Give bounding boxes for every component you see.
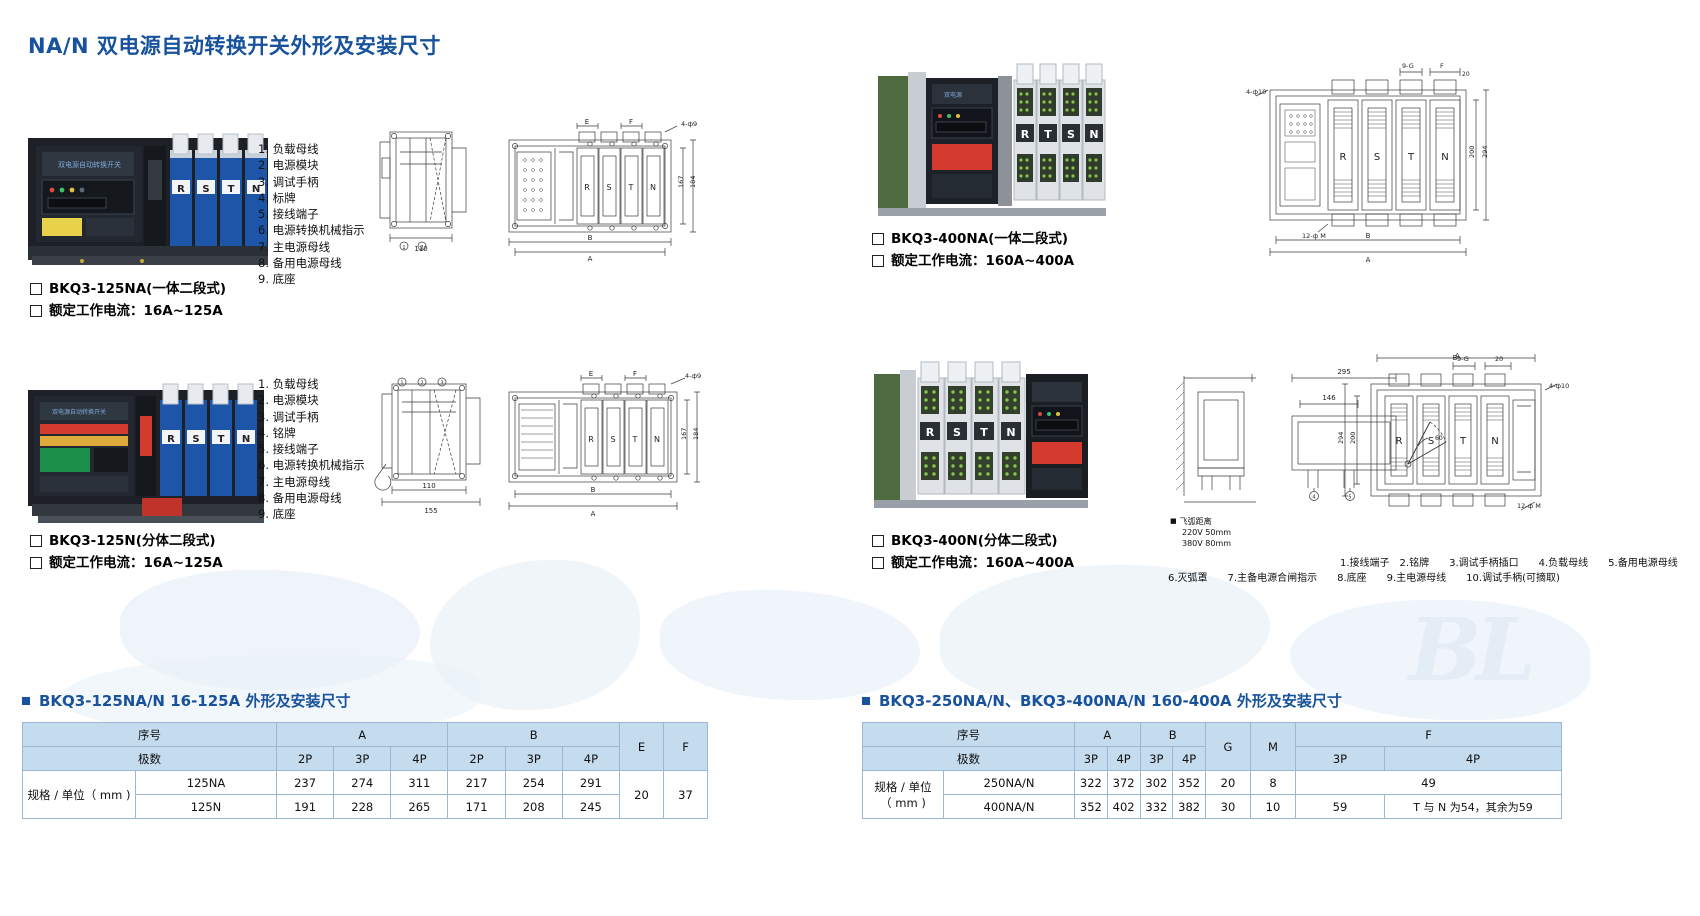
svg-text:R: R — [167, 434, 175, 445]
svg-text:4-ф9: 4-ф9 — [681, 120, 697, 128]
heading-text: BKQ3-250NA/N、BKQ3-400NA/N 160-400A 外形及安装… — [879, 690, 1342, 711]
td-B3P: 254 — [505, 771, 562, 795]
drawing-front-view-125na: E F 4-ф9 B A 167 184 R S T N — [495, 118, 705, 263]
svg-text:T: T — [1044, 128, 1052, 141]
th-B-4P: 4P — [562, 747, 619, 771]
product-model: BKQ3-125N(分体二段式) — [49, 530, 216, 552]
checkbox-icon[interactable] — [872, 535, 884, 547]
legend-line: 1.接线端子 2.铭牌 3.调试手柄插口 4.负载母线 5.备用电源母线 — [1168, 556, 1678, 571]
product-photo-bkq3-125na: 双电源自动转换开关 R S T — [22, 120, 282, 280]
svg-text:T: T — [228, 184, 235, 195]
svg-text:双电源自动转换开关: 双电源自动转换开关 — [52, 408, 106, 416]
arc-distance-note: ■ 飞弧距离 220V 50mm 380V 80mm — [1170, 516, 1231, 549]
svg-text:R: R — [177, 184, 185, 195]
legend-item: 1. 负载母线 — [258, 376, 365, 392]
legend-list-bkq3-125na: 1. 负载母线 2. 电源模块 3. 调试手柄 4. 标牌 5. 接线端子 6.… — [258, 141, 365, 288]
td-model: 250NA/N — [944, 771, 1075, 795]
svg-text:20: 20 — [1462, 71, 1470, 78]
spec-table-125: 序号 A B E F 极数 2P 3P 4P 2P 3P 4P 规格 / 单位（… — [22, 722, 708, 819]
table-row: 400NA/N 352 402 332 382 30 10 59 T 与 N 为… — [863, 795, 1562, 819]
th-serial: 序号 — [863, 723, 1075, 747]
svg-text:12-ф M: 12-ф M — [1517, 502, 1541, 510]
td-A4P: 372 — [1107, 771, 1140, 795]
th-F-4P: 4P — [1385, 747, 1562, 771]
product-model: BKQ3-400N(分体二段式) — [891, 530, 1058, 552]
th-serial: 序号 — [23, 723, 277, 747]
th-M: M — [1251, 723, 1296, 771]
svg-text:N: N — [242, 434, 250, 445]
legend-item: 4. 铭牌 — [258, 425, 365, 441]
svg-text:T: T — [1459, 436, 1467, 447]
legend-item: 7. 主电源母线 — [258, 474, 365, 490]
svg-text:T: T — [632, 435, 638, 444]
svg-text:4: 4 — [1312, 495, 1315, 501]
svg-text:184: 184 — [689, 176, 697, 188]
page-title: NA/N 双电源自动转换开关外形及安装尺寸 — [28, 30, 441, 60]
svg-text:294: 294 — [1481, 146, 1489, 158]
checkbox-icon[interactable] — [30, 283, 42, 295]
svg-text:1: 1 — [402, 245, 405, 251]
svg-text:R: R — [926, 426, 935, 439]
product-photo-bkq3-400n: R S T — [868, 360, 1098, 515]
td-A2P: 237 — [277, 771, 334, 795]
th-E: E — [620, 723, 664, 771]
dimension-label-A: A — [1455, 352, 1460, 360]
arc-note-title: 飞弧距离 — [1180, 516, 1212, 527]
product-current: 额定工作电流：160A~400A — [891, 250, 1074, 272]
svg-text:S: S — [606, 183, 611, 192]
spec-table-250-400: 序号 A B G M F 极数 3P 4P 3P 4P 3P 4P 规格 / 单… — [862, 722, 1562, 819]
th-A: A — [277, 723, 448, 747]
legend-item: 7. 主电源母线 — [258, 239, 365, 255]
drawing-wall-mount-400n — [1168, 366, 1278, 516]
svg-text:R: R — [584, 183, 590, 192]
checkbox-icon[interactable] — [872, 233, 884, 245]
svg-text:N: N — [650, 183, 656, 192]
td-A4P: 311 — [391, 771, 448, 795]
svg-text:N: N — [1491, 436, 1498, 447]
product-model: BKQ3-400NA(一体二段式) — [891, 228, 1068, 250]
svg-text:F: F — [633, 370, 637, 378]
td-B3P: 208 — [505, 795, 562, 819]
section-heading-left-table: BKQ3-125NA/N 16-125A 外形及安装尺寸 — [22, 690, 350, 711]
svg-text:R: R — [588, 435, 594, 444]
checkbox-icon[interactable] — [30, 305, 42, 317]
svg-text:F: F — [1440, 62, 1444, 70]
unit-line-2: （ mm ) — [863, 795, 943, 811]
unit-line-1: 规格 / 单位 — [863, 779, 943, 795]
checkbox-icon[interactable] — [872, 557, 884, 569]
svg-text:E: E — [589, 370, 593, 378]
th-F-3P: 3P — [1296, 747, 1385, 771]
td-model: 125N — [136, 795, 277, 819]
td-unit-label: 规格 / 单位（ mm ) — [23, 771, 136, 819]
td-F-400-3P: 59 — [1296, 795, 1385, 819]
th-B-4P: 4P — [1173, 747, 1206, 771]
svg-text:1: 1 — [400, 381, 403, 387]
td-A4P: 265 — [391, 795, 448, 819]
th-G: G — [1206, 723, 1251, 771]
legend-item: 3. 调试手柄 — [258, 409, 365, 425]
svg-text:S: S — [1067, 128, 1075, 141]
td-model: 400NA/N — [944, 795, 1075, 819]
drawing-front-view-125n: E F 4-ф9 B A 167 184 R S T N — [495, 368, 710, 518]
svg-text:167: 167 — [680, 428, 688, 440]
drawing-side-view-125n: 110 155 1 2 3 — [368, 368, 508, 518]
th-F: F — [1296, 723, 1562, 747]
th-A-4P: 4P — [391, 747, 448, 771]
th-B-2P: 2P — [448, 747, 505, 771]
td-G: 20 — [1206, 771, 1251, 795]
svg-text:S: S — [953, 426, 961, 439]
svg-text:200: 200 — [1349, 432, 1357, 444]
svg-text:R: R — [1396, 436, 1403, 447]
td-B4P: 352 — [1173, 771, 1206, 795]
table-header-row-2: 极数 2P 3P 4P 2P 3P 4P — [23, 747, 708, 771]
td-E: 20 — [620, 771, 664, 819]
product-photo-bkq3-400na: 双电源 R T — [870, 58, 1110, 233]
svg-text:12-ф M: 12-ф M — [1302, 232, 1326, 240]
svg-text:R: R — [1340, 152, 1347, 163]
square-bullet-icon — [862, 697, 870, 705]
svg-text:S: S — [1428, 436, 1434, 447]
drawing-front-view-400na: 9-G F 20 4-ф10 12-ф M 200 294 B A R S T … — [1240, 62, 1500, 272]
legend-item: 6. 电源转换机械指示 — [258, 222, 365, 238]
drawing-front-view-400n: B A . 9-G 20 4-ф10 12-ф M 200 294 R S T … — [1335, 352, 1570, 537]
legend-item: 9. 底座 — [258, 271, 365, 287]
legend-item: 9. 底座 — [258, 506, 365, 522]
caption-bkq3-125n: BKQ3-125N(分体二段式) 额定工作电流：16A~125A — [30, 530, 223, 574]
product-current: 额定工作电流：16A~125A — [49, 300, 223, 322]
svg-text:N: N — [1441, 152, 1448, 163]
svg-text:T: T — [218, 434, 225, 445]
svg-text:T: T — [1407, 152, 1415, 163]
legend-item: 5. 接线端子 — [258, 441, 365, 457]
svg-text:E: E — [585, 118, 589, 126]
legend-line: 6.灭弧罩 7.主备电源合闸指示 8.底座 9.主电源母线 10.调试手柄(可摘… — [1168, 571, 1678, 586]
svg-text:双电源自动转换开关: 双电源自动转换开关 — [58, 160, 121, 169]
legend-item: 2. 电源模块 — [258, 157, 365, 173]
legend-item: 2. 电源模块 — [258, 392, 365, 408]
th-A-2P: 2P — [277, 747, 334, 771]
svg-text:N: N — [1089, 128, 1098, 141]
checkbox-icon[interactable] — [30, 557, 42, 569]
svg-text:T: T — [628, 183, 634, 192]
legend-item: 5. 接线端子 — [258, 206, 365, 222]
td-A3P: 274 — [334, 771, 391, 795]
checkbox-icon[interactable] — [30, 535, 42, 547]
svg-text:167: 167 — [677, 176, 685, 188]
td-B3P: 332 — [1140, 795, 1173, 819]
legend-list-bkq3-400n: 1.接线端子 2.铭牌 3.调试手柄插口 4.负载母线 5.备用电源母线 6.灭… — [1168, 556, 1678, 586]
svg-text:9-G: 9-G — [1402, 62, 1414, 70]
arc-note-line: 220V 50mm — [1182, 527, 1231, 538]
svg-text:2: 2 — [420, 381, 423, 387]
section-heading-right-table: BKQ3-250NA/N、BKQ3-400NA/N 160-400A 外形及安装… — [862, 690, 1342, 711]
svg-text:N: N — [654, 435, 660, 444]
bullet-icon: ■ — [1170, 516, 1177, 527]
svg-text:200: 200 — [1468, 146, 1476, 158]
svg-text:3: 3 — [440, 381, 443, 387]
td-model: 125NA — [136, 771, 277, 795]
svg-text:A: A — [588, 255, 593, 263]
svg-text:F: F — [629, 118, 633, 126]
legend-item: 3. 调试手柄 — [258, 174, 365, 190]
svg-text:4-ф10: 4-ф10 — [1246, 88, 1266, 96]
svg-text:S: S — [192, 434, 199, 445]
arc-note-line: 380V 80mm — [1182, 538, 1231, 549]
svg-text:4-ф9: 4-ф9 — [685, 372, 701, 380]
square-bullet-icon — [22, 697, 30, 705]
td-A2P: 191 — [277, 795, 334, 819]
td-B4P: 245 — [562, 795, 619, 819]
svg-text:S: S — [1374, 152, 1380, 163]
td-M: 8 — [1251, 771, 1296, 795]
td-F: 37 — [664, 771, 708, 819]
legend-item: 4. 标牌 — [258, 190, 365, 206]
svg-text:N: N — [1006, 426, 1015, 439]
product-current: 额定工作电流：160A~400A — [891, 552, 1074, 574]
svg-text:A: A — [1366, 256, 1371, 264]
td-unit-label: 规格 / 单位 （ mm ) — [863, 771, 944, 819]
legend-item: 8. 备用电源母线 — [258, 490, 365, 506]
brand-watermark-text: BL — [1409, 600, 1530, 701]
caption-bkq3-400na: BKQ3-400NA(一体二段式) 额定工作电流：160A~400A — [872, 228, 1074, 272]
td-A3P: 352 — [1075, 795, 1108, 819]
svg-text:20: 20 — [1495, 355, 1503, 363]
td-B3P: 302 — [1140, 771, 1173, 795]
th-poles: 极数 — [863, 747, 1075, 771]
svg-text:S: S — [610, 435, 615, 444]
legend-item: 8. 备用电源母线 — [258, 255, 365, 271]
td-A3P: 228 — [334, 795, 391, 819]
product-current: 额定工作电流：16A~125A — [49, 552, 223, 574]
svg-text:S: S — [202, 184, 209, 195]
th-poles: 极数 — [23, 747, 277, 771]
td-B4P: 291 — [562, 771, 619, 795]
th-B-3P: 3P — [505, 747, 562, 771]
svg-text:294: 294 — [1337, 432, 1345, 444]
svg-text:T: T — [980, 426, 988, 439]
caption-bkq3-400n: BKQ3-400N(分体二段式) 额定工作电流：160A~400A — [872, 530, 1074, 574]
table-header-row: 序号 A B E F — [23, 723, 708, 747]
heading-text: BKQ3-125NA/N 16-125A 外形及安装尺寸 — [39, 690, 350, 711]
table-row: 规格 / 单位 （ mm ) 250NA/N 322 372 302 352 2… — [863, 771, 1562, 795]
checkbox-icon[interactable] — [872, 255, 884, 267]
svg-text:A: A — [591, 510, 596, 518]
svg-text:B: B — [591, 486, 596, 494]
svg-text:B: B — [588, 234, 593, 242]
svg-text:双电源: 双电源 — [944, 91, 962, 99]
th-A-3P: 3P — [1075, 747, 1108, 771]
td-G: 30 — [1206, 795, 1251, 819]
td-F-400-4P: T 与 N 为54，其余为59 — [1385, 795, 1562, 819]
td-B2P: 171 — [448, 795, 505, 819]
product-model: BKQ3-125NA(一体二段式) — [49, 278, 226, 300]
td-F-250: 49 — [1296, 771, 1562, 795]
table-header-row: 序号 A B G M F — [863, 723, 1562, 747]
th-B: B — [1140, 723, 1206, 747]
legend-item: 1. 负载母线 — [258, 141, 365, 157]
svg-text:184: 184 — [692, 428, 700, 440]
legend-list-bkq3-125n: 1. 负载母线 2. 电源模块 3. 调试手柄 4. 铭牌 5. 接线端子 6.… — [258, 376, 365, 523]
th-A-3P: 3P — [334, 747, 391, 771]
th-A-4P: 4P — [1107, 747, 1140, 771]
td-B4P: 382 — [1173, 795, 1206, 819]
svg-text:110: 110 — [422, 482, 435, 490]
th-B: B — [448, 723, 620, 747]
table-row: 规格 / 单位（ mm ) 125NA 237 274 311 217 254 … — [23, 771, 708, 795]
legend-item: 6. 电源转换机械指示 — [258, 457, 365, 473]
svg-text:B: B — [1366, 232, 1371, 240]
th-B-3P: 3P — [1140, 747, 1173, 771]
td-A4P: 402 — [1107, 795, 1140, 819]
td-M: 10 — [1251, 795, 1296, 819]
svg-text:4-ф10: 4-ф10 — [1549, 382, 1569, 390]
svg-text:2: 2 — [420, 245, 423, 251]
td-B2P: 217 — [448, 771, 505, 795]
caption-bkq3-125na: BKQ3-125NA(一体二段式) 额定工作电流：16A~125A — [30, 278, 226, 322]
drawing-side-view-125na: 110 1 2 — [370, 118, 500, 258]
td-A3P: 322 — [1075, 771, 1108, 795]
product-photo-bkq3-125n: 双电源自动转换开关 R S T N — [22, 372, 272, 532]
th-A: A — [1075, 723, 1141, 747]
th-F: F — [664, 723, 708, 771]
svg-text:R: R — [1021, 128, 1030, 141]
svg-text:155: 155 — [424, 507, 437, 515]
